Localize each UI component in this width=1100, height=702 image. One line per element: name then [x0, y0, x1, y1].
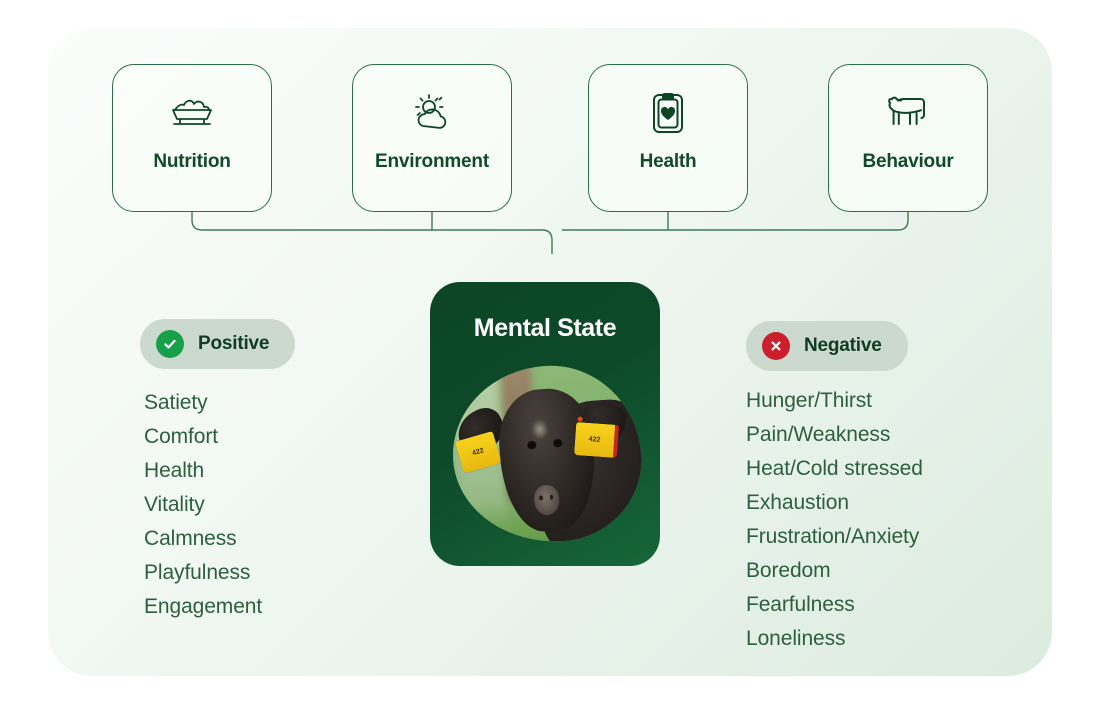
list-item: Fearfulness [746, 588, 923, 622]
mental-state-title: Mental State [430, 314, 660, 343]
list-item: Comfort [144, 420, 262, 454]
positive-badge: Positive [140, 319, 295, 369]
negative-badge-label: Negative [804, 335, 882, 357]
clipboard-heart-icon [651, 91, 685, 135]
cow-nostril-right [550, 495, 554, 500]
list-item: Hunger/Thirst [746, 384, 923, 418]
ear-tag-right: 422 [574, 422, 619, 458]
cow-forehead-marking [532, 420, 548, 439]
factor-label: Environment [375, 151, 489, 173]
list-item: Calmness [144, 522, 262, 556]
factor-label: Behaviour [862, 151, 953, 173]
list-item: Satiety [144, 386, 262, 420]
positive-state-list: Satiety Comfort Health Vitality Calmness… [144, 386, 262, 624]
list-item: Playfulness [144, 556, 262, 590]
factor-card-nutrition[interactable]: Nutrition [112, 64, 272, 212]
list-item: Vitality [144, 488, 262, 522]
list-item: Health [144, 454, 262, 488]
negative-badge: Negative [746, 321, 908, 371]
x-circle-icon [762, 332, 790, 360]
sun-cloud-icon [410, 91, 454, 135]
infographic-panel: Nutrition Environment Health [48, 28, 1052, 676]
negative-state-list: Hunger/Thirst Pain/Weakness Heat/Cold st… [746, 384, 923, 656]
list-item: Engagement [144, 590, 262, 624]
check-circle-icon [156, 330, 184, 358]
list-item: Exhaustion [746, 486, 923, 520]
positive-badge-label: Positive [198, 333, 269, 355]
cow-icon [884, 91, 932, 135]
pasture-background: 422 422 [447, 360, 647, 549]
feed-bowl-icon [170, 91, 214, 135]
list-item: Boredom [746, 554, 923, 588]
cow-nostril-left [539, 495, 543, 500]
factor-label: Nutrition [153, 151, 230, 173]
factor-card-environment[interactable]: Environment [352, 64, 512, 212]
factor-card-health[interactable]: Health [588, 64, 748, 212]
list-item: Heat/Cold stressed [746, 452, 923, 486]
list-item: Pain/Weakness [746, 418, 923, 452]
cow-eye-right [553, 439, 562, 448]
factor-card-behaviour[interactable]: Behaviour [828, 64, 988, 212]
cow-photo: 422 422 [447, 360, 647, 549]
list-item: Frustration/Anxiety [746, 520, 923, 554]
factor-label: Health [640, 151, 697, 173]
cow-muzzle [533, 485, 560, 517]
mental-state-card: Mental State 422 [430, 282, 660, 566]
cow-eye-left [527, 441, 536, 450]
list-item: Loneliness [746, 622, 923, 656]
